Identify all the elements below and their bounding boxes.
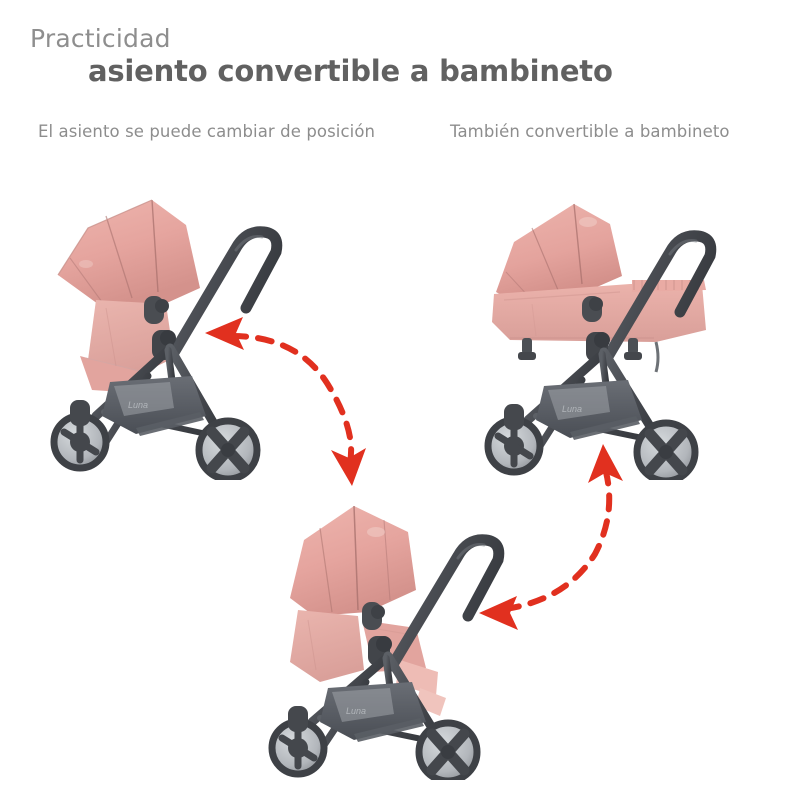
svg-text:Luna: Luna: [128, 400, 148, 410]
svg-text:Luna: Luna: [346, 706, 366, 716]
wheel-front: [419, 723, 477, 780]
stroller-seat-forward: Luna: [40, 180, 330, 480]
caption-left: El asiento se puede cambiar de posición: [38, 122, 375, 141]
section-eyebrow: Practicidad: [30, 24, 171, 53]
canopy: [290, 506, 416, 616]
wheel-front: [199, 421, 257, 479]
stroller-bassinet: Luna: [470, 180, 770, 480]
svg-text:Luna: Luna: [562, 404, 582, 414]
section-headline: asiento convertible a bambineto: [88, 54, 613, 88]
wheel-front: [637, 423, 695, 480]
infographic-page: Practicidad asiento convertible a bambin…: [0, 0, 800, 800]
caption-right: También convertible a bambineto: [450, 122, 730, 141]
canopy: [58, 200, 200, 306]
stroller-seat-reversed: Luna: [250, 470, 550, 780]
